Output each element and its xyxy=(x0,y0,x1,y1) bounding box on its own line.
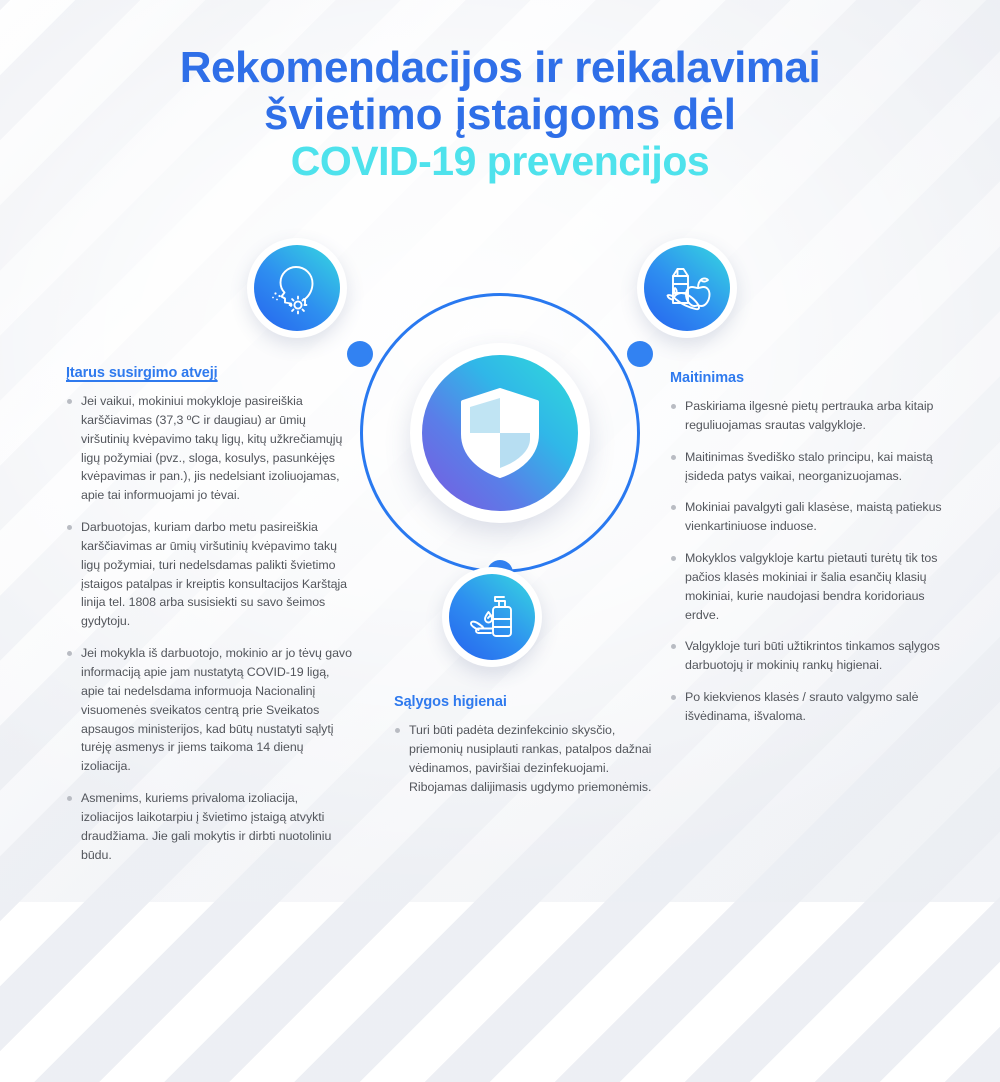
central-hub xyxy=(360,293,640,573)
sat-food xyxy=(637,238,737,338)
sat-symptoms xyxy=(247,238,347,338)
title-line-1: Rekomendacijos ir reikalavimai xyxy=(0,44,1000,91)
list-item: Mokyklos valgykloje kartu pietauti turėt… xyxy=(670,549,956,624)
list-item: Darbuotojas, kuriam darbo metu pasireišk… xyxy=(66,518,352,631)
section-bottom-heading: Sąlygos higienai xyxy=(394,694,666,710)
section-right-list: Paskiriama ilgesnė pietų pertrauka arba … xyxy=(670,397,956,726)
food-nutrition-icon xyxy=(658,259,716,317)
center-badge xyxy=(410,343,590,523)
section-right-heading: Maitinimas xyxy=(670,370,956,386)
sat-hygiene-gradient xyxy=(449,574,535,660)
list-item: Valgykloje turi būti užtikrintos tinkamo… xyxy=(670,637,956,675)
ring-dot-left xyxy=(347,341,373,367)
list-item: Asmenims, kuriems privaloma izoliacija, … xyxy=(66,789,352,864)
sat-symptoms-gradient xyxy=(254,245,340,331)
sat-food-gradient xyxy=(644,245,730,331)
page-title: Rekomendacijos ir reikalavimai švietimo … xyxy=(0,44,1000,184)
section-bottom-list: Turi būti padėta dezinfekcinio skysčio, … xyxy=(394,721,666,796)
list-item: Po kiekvienos klasės / srauto valgymo sa… xyxy=(670,688,956,726)
section-left-list: Jei vaikui, mokiniui mokykloje pasireišk… xyxy=(66,392,352,864)
hand-sanitizer-icon xyxy=(463,588,521,646)
list-item: Paskiriama ilgesnė pietų pertrauka arba … xyxy=(670,397,956,435)
list-item: Jei vaikui, mokiniui mokykloje pasireišk… xyxy=(66,392,352,505)
center-badge-gradient xyxy=(422,355,578,511)
title-line-2: švietimo įstaigoms dėl xyxy=(0,91,1000,138)
sat-hygiene xyxy=(442,567,542,667)
list-item: Jei mokykla iš darbuotojo, mokinio ar jo… xyxy=(66,644,352,776)
section-bottom: Sąlygos higienai Turi būti padėta dezinf… xyxy=(394,694,666,796)
section-left-heading: Įtarus susirgimo atvejį xyxy=(66,365,352,381)
infographic-stage: Rekomendacijos ir reikalavimai švietimo … xyxy=(0,0,1000,902)
list-item: Maitinimas švediško stalo principu, kai … xyxy=(670,448,956,486)
list-item: Mokiniai pavalgyti gali klasėse, maistą … xyxy=(670,498,956,536)
section-left: Įtarus susirgimo atvejį Jei vaikui, moki… xyxy=(66,365,352,864)
title-line-3: COVID-19 prevencijos xyxy=(0,140,1000,184)
section-right: Maitinimas Paskiriama ilgesnė pietų pert… xyxy=(670,370,956,726)
sneezing-head-icon xyxy=(269,260,325,316)
ring-dot-right xyxy=(627,341,653,367)
list-item: Turi būti padėta dezinfekcinio skysčio, … xyxy=(394,721,666,796)
shield-icon xyxy=(457,387,543,479)
